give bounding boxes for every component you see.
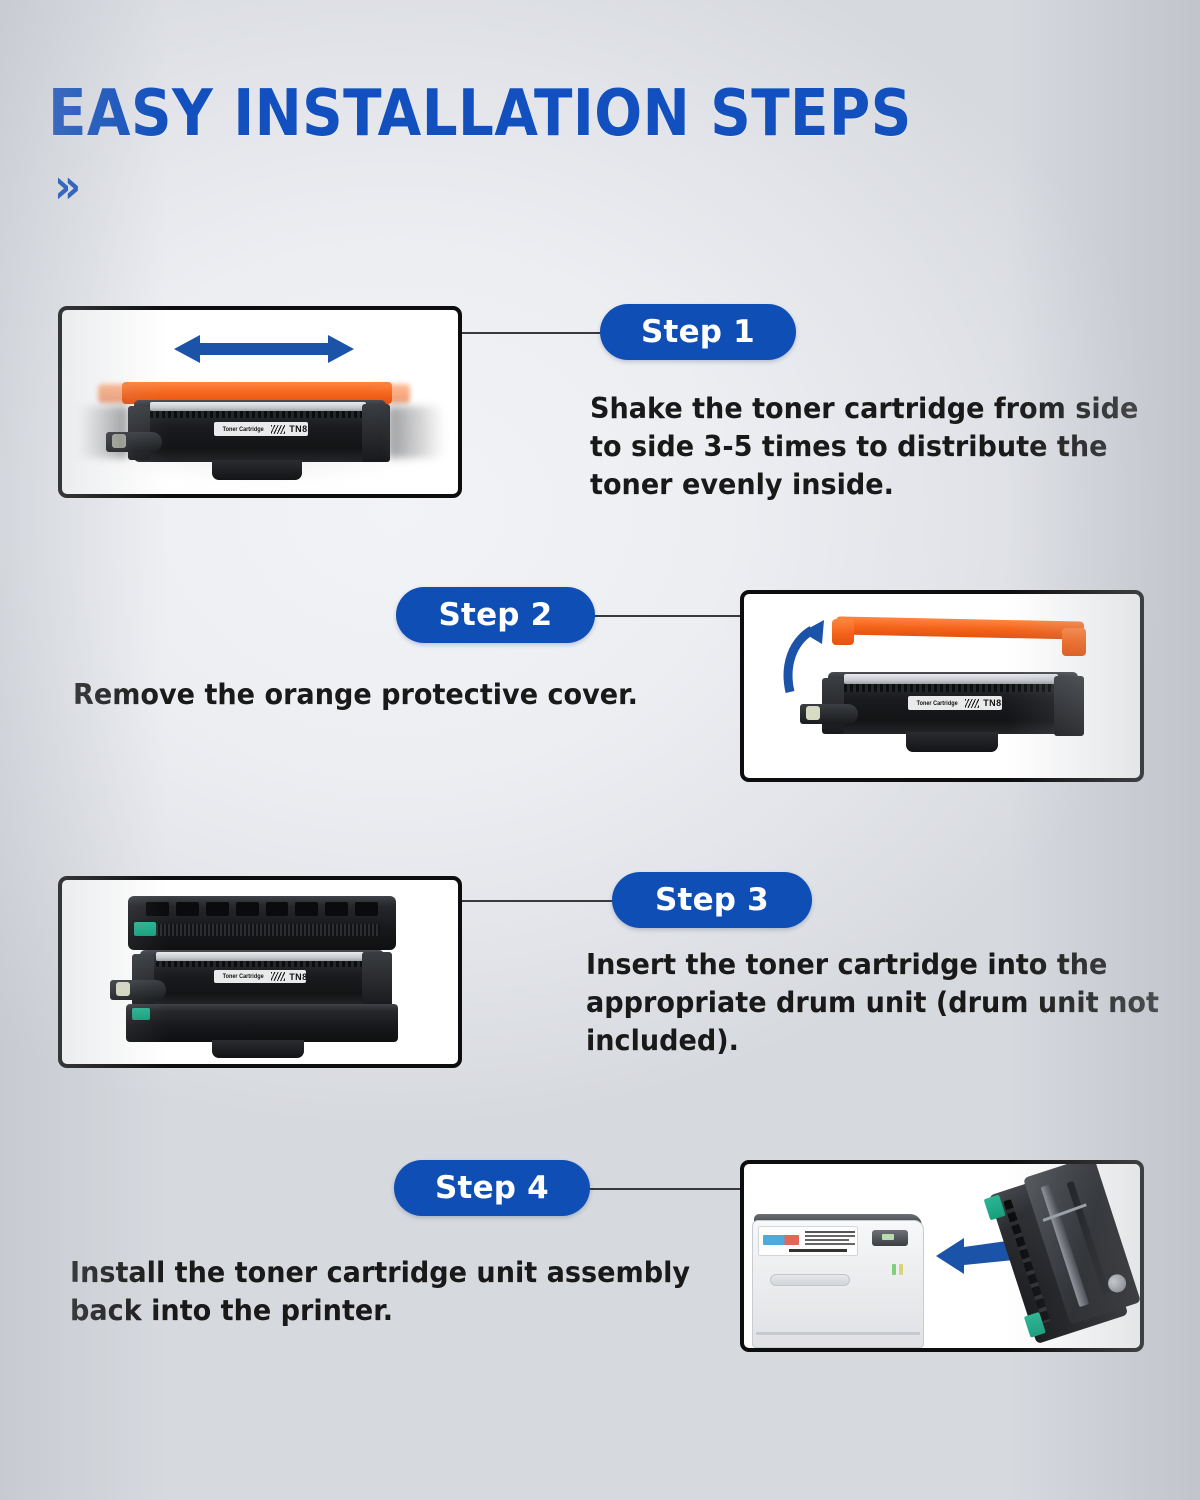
cartridge-top-strip (150, 402, 366, 411)
cartridge-right-end (362, 404, 390, 462)
printer-paper-tray-handle (770, 1274, 850, 1286)
cartridge-logo-icon (271, 972, 285, 981)
cartridge-label: Toner Cartridge TN830XL (214, 422, 308, 436)
step-4-badge[interactable]: Step 4 (394, 1160, 590, 1216)
cartridge-label-model: TN830XL (289, 424, 308, 434)
page-title: EASY INSTALLATION STEPS (48, 82, 912, 146)
drum-unit-handle (212, 1040, 304, 1058)
cartridge-label-brand: Toner Cartridge (223, 973, 264, 980)
step-2-badge[interactable]: Step 2 (396, 587, 595, 643)
page-header: EASY INSTALLATION STEPS » (48, 82, 1029, 204)
drum-unit-green-clip-bottom (132, 1008, 150, 1020)
step-4-image-panel (740, 1160, 1144, 1352)
step-3-badge[interactable]: Step 3 (612, 872, 812, 928)
cartridge-label-model: TN830XL (289, 972, 306, 982)
cartridge-handle (212, 460, 302, 480)
cartridge-right-end (362, 952, 392, 1008)
printer-led-green (892, 1264, 896, 1275)
step-2-image-panel: Toner Cartridge TN830XL (740, 590, 1144, 782)
cartridge-logo-icon (965, 699, 979, 708)
orange-cover-left-tab (832, 619, 854, 645)
cartridge-logo-icon (271, 425, 285, 434)
drum-unit-roller (142, 924, 380, 936)
step-1-description: Shake the toner cartridge from side to s… (590, 390, 1160, 504)
step-3-illustration: Toner Cartridge TN830XL (62, 880, 458, 1064)
cartridge-label-brand: Toner Cartridge (917, 700, 958, 707)
step-3-connector-line (462, 900, 622, 902)
cartridge-label: Toner Cartridge TN830XL (214, 970, 306, 983)
drum-unit-green-clip-top (134, 922, 156, 936)
step-4-illustration (744, 1164, 1140, 1348)
step-1-connector-line (462, 332, 610, 334)
printer-led-amber (899, 1264, 903, 1275)
printer-warning-sticker (758, 1226, 858, 1256)
cartridge-handle (906, 732, 998, 752)
cartridge-label-model: TN830XL (983, 698, 1002, 708)
cartridge-roller-strip (156, 961, 364, 967)
step-1-image-panel: Toner Cartridge TN830XL (58, 306, 462, 498)
step-3-image-panel: Toner Cartridge TN830XL (58, 876, 462, 1068)
orange-cover-right-tab (1062, 628, 1086, 656)
step-1-badge[interactable]: Step 1 (600, 304, 796, 360)
installation-steps-page: EASY INSTALLATION STEPS » (0, 0, 1200, 1500)
cartridge-right-end (1054, 676, 1084, 736)
step-4-connector-line (584, 1188, 742, 1190)
cartridge-top-strip (156, 952, 364, 961)
step-2-description: Remove the orange protective cover. (73, 676, 681, 714)
cartridge-roller-strip (844, 684, 1058, 692)
step-4-description: Install the toner cartridge unit assembl… (70, 1254, 697, 1330)
orange-cover-blur-left (98, 384, 132, 403)
step-2-illustration: Toner Cartridge TN830XL (744, 594, 1140, 778)
orange-protective-cover (836, 616, 1084, 639)
step-2-connector-line (592, 615, 742, 617)
drum-toner-assembly (970, 1160, 1144, 1352)
double-chevron-right-icon: » (54, 162, 1029, 210)
cartridge-label: Toner Cartridge TN830XL (908, 696, 1002, 710)
double-headed-arrow-icon (170, 332, 358, 366)
drum-unit-vents (146, 902, 378, 916)
cartridge-top-strip (844, 674, 1058, 684)
step-1-illustration: Toner Cartridge TN830XL (62, 310, 458, 494)
cartridge-roller-strip (150, 411, 366, 418)
drum-unit-base-frame (126, 1004, 398, 1042)
cartridge-label-brand: Toner Cartridge (223, 426, 264, 433)
step-3-description: Insert the toner cartridge into the appr… (586, 946, 1166, 1060)
